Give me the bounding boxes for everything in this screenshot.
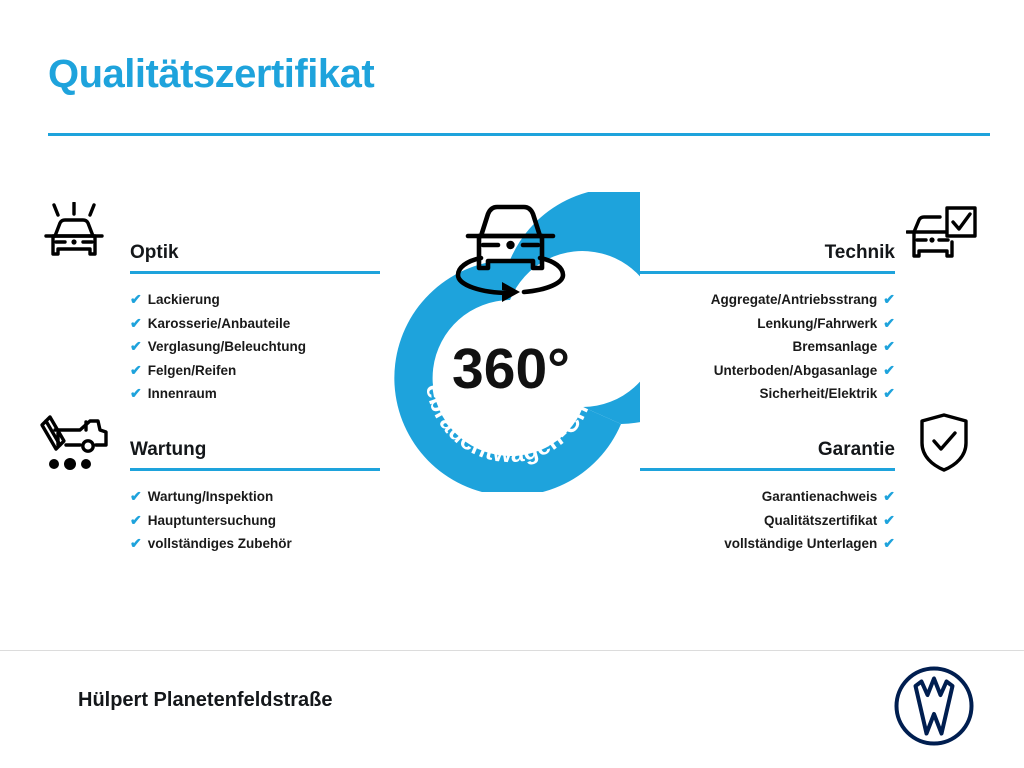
list-item-label: Qualitätszertifikat xyxy=(764,509,877,533)
checklist-wartung: ✔ Wartung/Inspektion ✔ Hauptuntersuchung… xyxy=(130,485,380,556)
360-gebrauchtwagen-check-badge: Gebrauchtwagen-Check 360° xyxy=(380,192,640,492)
list-item: ✔ vollständiges Zubehör xyxy=(130,532,380,556)
check-icon: ✔ xyxy=(130,312,142,336)
volkswagen-logo xyxy=(893,665,975,747)
section-divider-wartung xyxy=(130,468,380,471)
checklist-optik: ✔ Lackierung ✔ Karosserie/Anbauteile ✔ V… xyxy=(130,288,380,406)
section-title-wartung: Wartung xyxy=(130,437,380,463)
section-header-technik: Technik xyxy=(640,240,895,274)
list-item-label: Karosserie/Anbauteile xyxy=(148,312,291,336)
list-item: ✔ Verglasung/Beleuchtung xyxy=(130,335,380,359)
list-item: Sicherheit/Elektrik ✔ xyxy=(640,382,895,406)
list-item-label: Lenkung/Fahrwerk xyxy=(757,312,877,336)
car-service-record-icon xyxy=(34,408,114,479)
section-header-optik: Optik xyxy=(130,240,380,274)
list-item: Unterboden/Abgasanlage ✔ xyxy=(640,359,895,383)
certificate-page: Qualitätszertifikat xyxy=(0,0,1024,768)
check-icon: ✔ xyxy=(883,359,895,383)
badge-center-label: 360° xyxy=(452,337,570,401)
list-item-label: Innenraum xyxy=(148,382,217,406)
check-icon: ✔ xyxy=(130,485,142,509)
list-item: ✔ Wartung/Inspektion xyxy=(130,485,380,509)
list-item: ✔ Karosserie/Anbauteile xyxy=(130,312,380,336)
list-item-label: Sicherheit/Elektrik xyxy=(759,382,877,406)
check-icon: ✔ xyxy=(883,485,895,509)
check-icon: ✔ xyxy=(883,532,895,556)
section-title-optik: Optik xyxy=(130,240,380,266)
list-item: Lenkung/Fahrwerk ✔ xyxy=(640,312,895,336)
list-item-label: Bremsanlage xyxy=(792,335,877,359)
list-item: Qualitätszertifikat ✔ xyxy=(640,509,895,533)
car-checkbox-icon xyxy=(906,204,978,271)
list-item-label: Lackierung xyxy=(148,288,220,312)
list-item: Bremsanlage ✔ xyxy=(640,335,895,359)
section-optik: Optik ✔ Lackierung ✔ Karosserie/Anbautei… xyxy=(130,240,380,406)
list-item-label: Unterboden/Abgasanlage xyxy=(714,359,878,383)
check-icon: ✔ xyxy=(883,382,895,406)
checklist-technik: Aggregate/Antriebsstrang ✔ Lenkung/Fahrw… xyxy=(640,288,895,406)
check-icon: ✔ xyxy=(130,335,142,359)
section-garantie: Garantie Garantienachweis ✔ Qualitätszer… xyxy=(640,437,895,556)
section-divider-optik xyxy=(130,271,380,274)
check-icon: ✔ xyxy=(883,509,895,533)
list-item: ✔ Innenraum xyxy=(130,382,380,406)
check-icon: ✔ xyxy=(130,532,142,556)
page-title: Qualitätszertifikat xyxy=(48,50,374,98)
section-title-garantie: Garantie xyxy=(640,437,895,463)
list-item-label: Aggregate/Antriebsstrang xyxy=(711,288,878,312)
header-divider xyxy=(48,133,990,136)
list-item-label: Verglasung/Beleuchtung xyxy=(148,335,306,359)
check-icon: ✔ xyxy=(883,335,895,359)
check-icon: ✔ xyxy=(883,288,895,312)
section-header-wartung: Wartung xyxy=(130,437,380,471)
section-divider-technik xyxy=(640,271,895,274)
list-item-label: vollständige Unterlagen xyxy=(724,532,877,556)
list-item: ✔ Felgen/Reifen xyxy=(130,359,380,383)
list-item: ✔ Lackierung xyxy=(130,288,380,312)
shield-check-icon xyxy=(916,412,972,479)
check-icon: ✔ xyxy=(130,509,142,533)
check-icon: ✔ xyxy=(130,382,142,406)
list-item: ✔ Hauptuntersuchung xyxy=(130,509,380,533)
car-shine-icon xyxy=(40,202,108,269)
check-icon: ✔ xyxy=(883,312,895,336)
check-icon: ✔ xyxy=(130,359,142,383)
list-item-label: Wartung/Inspektion xyxy=(148,485,274,509)
dealer-name: Hülpert Planetenfeldstraße xyxy=(78,687,333,713)
section-divider-garantie xyxy=(640,468,895,471)
section-wartung: Wartung ✔ Wartung/Inspektion ✔ Hauptunte… xyxy=(130,437,380,556)
check-icon: ✔ xyxy=(130,288,142,312)
list-item-label: Felgen/Reifen xyxy=(148,359,237,383)
checklist-garantie: Garantienachweis ✔ Qualitätszertifikat ✔… xyxy=(640,485,895,556)
section-header-garantie: Garantie xyxy=(640,437,895,471)
list-item: vollständige Unterlagen ✔ xyxy=(640,532,895,556)
section-title-technik: Technik xyxy=(640,240,895,266)
section-technik: Technik Aggregate/Antriebsstrang ✔ Lenku… xyxy=(640,240,895,406)
list-item-label: Garantienachweis xyxy=(762,485,878,509)
footer-divider xyxy=(0,650,1024,651)
list-item: Garantienachweis ✔ xyxy=(640,485,895,509)
list-item: Aggregate/Antriebsstrang ✔ xyxy=(640,288,895,312)
list-item-label: Hauptuntersuchung xyxy=(148,509,276,533)
list-item-label: vollständiges Zubehör xyxy=(148,532,292,556)
